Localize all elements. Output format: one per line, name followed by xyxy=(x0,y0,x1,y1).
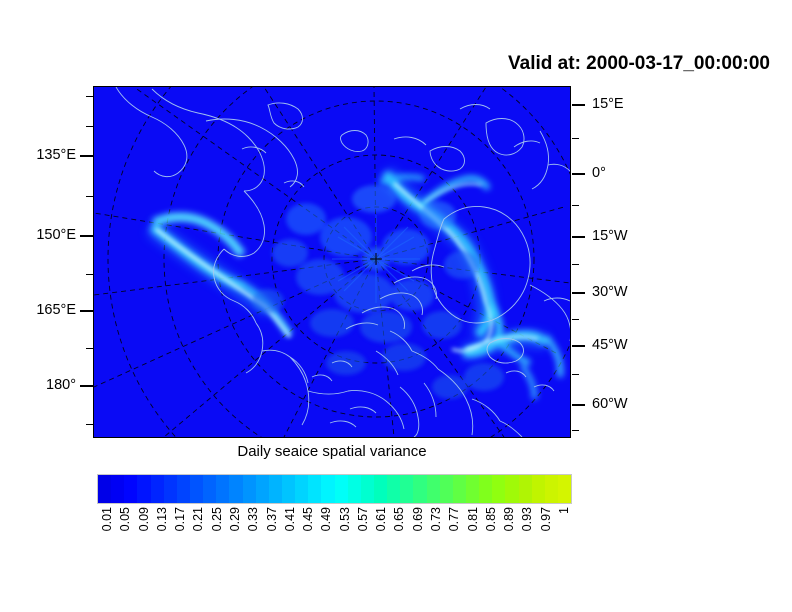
colorbar-tick-12: 0.49 xyxy=(319,507,333,531)
colorbar-swatch-30 xyxy=(492,475,505,503)
colorbar-swatch-27 xyxy=(453,475,466,503)
colorbar-swatch-19 xyxy=(348,475,361,503)
colorbar-swatch-3 xyxy=(137,475,150,503)
tick-right-minor-2 xyxy=(572,205,579,206)
tick-left-minor-1 xyxy=(86,96,93,97)
colorbar-tick-24: 0.97 xyxy=(539,507,553,531)
colorbar-tick-6: 0.25 xyxy=(210,507,224,531)
colorbar-tick-18: 0.73 xyxy=(429,507,443,531)
axis-label-right-4: 45°W xyxy=(592,337,628,353)
tick-right-major-1 xyxy=(572,104,585,106)
colorbar-swatch-26 xyxy=(440,475,453,503)
colorbar-swatch-35 xyxy=(558,475,571,503)
colorbar-tick-9: 0.37 xyxy=(265,507,279,531)
figure-root: Valid at: 2000-03-17_00:00:00 xyxy=(0,0,792,612)
tick-right-major-4 xyxy=(572,292,585,294)
tick-left-minor-2 xyxy=(86,126,93,127)
colorbar-tick-22: 0.89 xyxy=(502,507,516,531)
colorbar-tick-labels: 0.010.050.090.130.170.210.250.290.330.37… xyxy=(97,507,572,567)
colorbar-swatch-32 xyxy=(519,475,532,503)
colorbar-tick-4: 0.17 xyxy=(173,507,187,531)
colorbar-swatch-29 xyxy=(479,475,492,503)
colorbar-swatch-7 xyxy=(190,475,203,503)
colorbar-tick-11: 0.45 xyxy=(301,507,315,531)
tick-right-major-3 xyxy=(572,236,585,238)
colorbar-tick-10: 0.41 xyxy=(283,507,297,531)
colorbar-swatch-13 xyxy=(269,475,282,503)
tick-left-major-2 xyxy=(80,235,93,237)
colorbar-swatch-11 xyxy=(243,475,256,503)
axis-label-left-0: 135°E xyxy=(0,147,76,163)
colorbar-swatch-12 xyxy=(256,475,269,503)
colorbar-swatch-14 xyxy=(282,475,295,503)
arctic-map xyxy=(94,87,570,437)
colorbar-tick-7: 0.29 xyxy=(228,507,242,531)
colorbar-tick-14: 0.57 xyxy=(356,507,370,531)
colorbar-swatch-10 xyxy=(229,475,242,503)
map-plot-area xyxy=(93,86,571,438)
colorbar-tick-16: 0.65 xyxy=(392,507,406,531)
colorbar-swatch-23 xyxy=(400,475,413,503)
page-title: Valid at: 2000-03-17_00:00:00 xyxy=(0,53,770,75)
colorbar-tick-15: 0.61 xyxy=(374,507,388,531)
colorbar-tick-21: 0.85 xyxy=(484,507,498,531)
axis-label-left-2: 165°E xyxy=(0,302,76,318)
tick-right-major-5 xyxy=(572,345,585,347)
colorbar-swatch-31 xyxy=(505,475,518,503)
colorbar-swatch-0 xyxy=(98,475,111,503)
colorbar-swatch-24 xyxy=(413,475,426,503)
colorbar-swatch-16 xyxy=(308,475,321,503)
colorbar-swatch-1 xyxy=(111,475,124,503)
tick-right-minor-5 xyxy=(572,374,579,375)
tick-left-minor-5 xyxy=(86,348,93,349)
tick-right-minor-1 xyxy=(572,138,579,139)
tick-left-major-1 xyxy=(80,155,93,157)
colorbar-tick-20: 0.81 xyxy=(466,507,480,531)
axis-label-right-0: 15°E xyxy=(592,96,624,112)
colorbar-swatch-2 xyxy=(124,475,137,503)
axis-label-right-3: 30°W xyxy=(592,284,628,300)
tick-left-minor-3 xyxy=(86,196,93,197)
axis-label-right-2: 15°W xyxy=(592,228,628,244)
axis-label-left-1: 150°E xyxy=(0,227,76,243)
colorbar-tick-13: 0.53 xyxy=(338,507,352,531)
tick-left-minor-6 xyxy=(86,424,93,425)
colorbar-swatch-6 xyxy=(177,475,190,503)
tick-right-minor-6 xyxy=(572,430,579,431)
tick-left-major-3 xyxy=(80,310,93,312)
axis-label-right-5: 60°W xyxy=(592,396,628,412)
colorbar-caption: Daily seaice spatial variance xyxy=(93,443,571,460)
colorbar-tick-25: 1 xyxy=(557,507,571,514)
colorbar-tick-17: 0.69 xyxy=(411,507,425,531)
tick-left-minor-4 xyxy=(86,274,93,275)
colorbar-tick-3: 0.13 xyxy=(155,507,169,531)
colorbar-swatch-20 xyxy=(361,475,374,503)
colorbar-swatch-8 xyxy=(203,475,216,503)
tick-right-minor-3 xyxy=(572,264,579,265)
colorbar-tick-1: 0.05 xyxy=(118,507,132,531)
tick-right-major-2 xyxy=(572,173,585,175)
colorbar-swatch-18 xyxy=(335,475,348,503)
colorbar-swatch-9 xyxy=(216,475,229,503)
colorbar-tick-2: 0.09 xyxy=(137,507,151,531)
colorbar-swatch-4 xyxy=(151,475,164,503)
colorbar-swatch-25 xyxy=(427,475,440,503)
colorbar-swatch-33 xyxy=(532,475,545,503)
colorbar-swatch-34 xyxy=(545,475,558,503)
axis-label-right-1: 0° xyxy=(592,165,606,181)
tick-right-minor-4 xyxy=(572,319,579,320)
colorbar-swatch-5 xyxy=(164,475,177,503)
axis-label-left-3: 180° xyxy=(0,377,76,393)
tick-left-major-4 xyxy=(80,385,93,387)
colorbar-tick-23: 0.93 xyxy=(520,507,534,531)
colorbar-tick-19: 0.77 xyxy=(447,507,461,531)
colorbar-swatch-21 xyxy=(374,475,387,503)
colorbar-swatch-17 xyxy=(321,475,334,503)
colorbar-swatch-15 xyxy=(295,475,308,503)
colorbar-tick-5: 0.21 xyxy=(191,507,205,531)
tick-right-major-6 xyxy=(572,404,585,406)
colorbar-tick-0: 0.01 xyxy=(100,507,114,531)
colorbar-tick-8: 0.33 xyxy=(246,507,260,531)
colorbar-swatch-28 xyxy=(466,475,479,503)
colorbar-swatch-22 xyxy=(387,475,400,503)
colorbar xyxy=(97,474,572,504)
